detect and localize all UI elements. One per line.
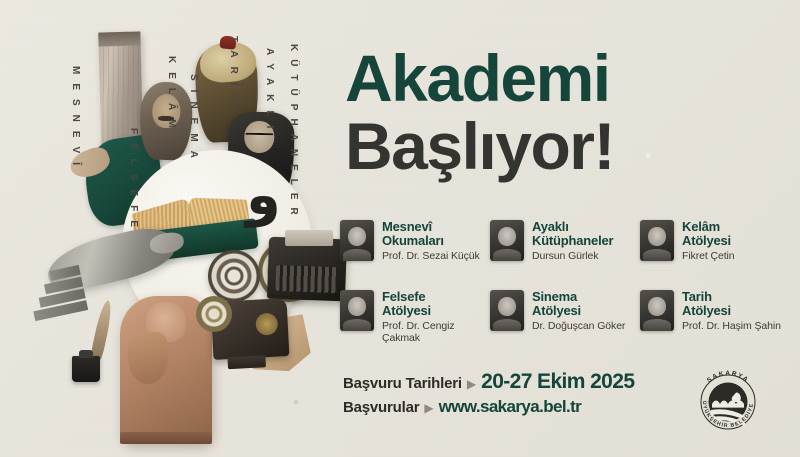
svg-text:SAKARYA: SAKARYA: [706, 370, 750, 384]
logo-top-text: SAKARYA: [706, 370, 750, 384]
vertical-word-ayakli: AYAKLI: [264, 48, 275, 137]
speaker-name: Prof. Dr. Cengiz Çakmak: [382, 320, 490, 344]
speaker-card-felsefe-atolyesi[interactable]: Felsefe Atölyesi Prof. Dr. Cengiz Çakmak: [340, 290, 490, 360]
avatar: [490, 290, 524, 331]
sakarya-municipality-logo: SAKARYA BÜYÜKŞEHİR BELEDİYESİ: [688, 362, 768, 442]
vertical-word-tarih: TARİH: [228, 36, 239, 111]
speaker-topic: Ayaklı Kütüphaneler: [532, 220, 613, 248]
title-line-basliyor: Başlıyor!: [345, 116, 775, 176]
speaker-topic: Kelâm Atölyesi: [682, 220, 734, 248]
application-dates-row: Başvuru Tarihleri ▶ 20-27 Ekim 2025: [343, 370, 703, 394]
typewriter-art: [267, 237, 347, 302]
vertical-word-kutuphaneler: KÜTÜPHANELER: [288, 44, 299, 223]
speaker-name: Prof. Dr. Sezai Küçük: [382, 250, 480, 262]
speaker-name: Dursun Gürlek: [532, 250, 613, 262]
speaker-name: Dr. Doğuşcan Göker: [532, 320, 625, 332]
avatar: [340, 290, 374, 331]
avatar: [640, 220, 674, 261]
speaker-card-kelam-atolyesi[interactable]: Kelâm Atölyesi Fikret Çetin: [640, 220, 790, 290]
speaker-topic: Felsefe Atölyesi: [382, 290, 490, 318]
speaker-name: Fikret Çetin: [682, 250, 734, 262]
speaker-topic: Mesnevî Okumaları: [382, 220, 480, 248]
speaker-name: Prof. Dr. Haşim Şahin: [682, 320, 781, 332]
title-line-akademi: Akademi: [345, 48, 775, 108]
vertical-word-kelam: KELÂM: [166, 56, 177, 137]
speaker-topic: Tarih Atölyesi: [682, 290, 781, 318]
avatar: [340, 220, 374, 261]
arrow-right-icon: ▶: [467, 378, 476, 390]
avatar: [490, 220, 524, 261]
application-url-value[interactable]: www.sakarya.bel.tr: [439, 397, 582, 417]
speaker-card-ayakli-kutuphaneler[interactable]: Ayaklı Kütüphaneler Dursun Gürlek: [490, 220, 640, 290]
vertical-word-felsefe: FELSEFE: [128, 128, 139, 236]
application-dates-value: 20-27 Ekim 2025: [481, 370, 634, 394]
vertical-word-sinema: SİNEMA: [188, 74, 199, 167]
collage-artwork: و MESNEVÎ FELSEFE KELÂM SİNEMA TARİH AYA…: [0, 0, 330, 457]
speaker-card-tarih-atolyesi[interactable]: Tarih Atölyesi Prof. Dr. Haşim Şahin: [640, 290, 790, 360]
footer-info: Başvuru Tarihleri ▶ 20-27 Ekim 2025 Başv…: [343, 370, 703, 417]
vertical-word-mesnevi: MESNEVÎ: [70, 66, 81, 174]
speaker-topic: Sinema Atölyesi: [532, 290, 625, 318]
quill-feather-art: [90, 299, 114, 360]
application-dates-label: Başvuru Tarihleri: [343, 375, 462, 392]
speaker-list: Mesnevî Okumaları Prof. Dr. Sezai Küçük …: [340, 220, 790, 360]
film-reel-art: [196, 296, 232, 332]
poster-title: Akademi Başlıyor!: [345, 48, 775, 176]
speaker-card-mesnevi-okumalari[interactable]: Mesnevî Okumaları Prof. Dr. Sezai Küçük: [340, 220, 490, 290]
avatar: [640, 290, 674, 331]
ink-pot-art: [72, 356, 100, 382]
statue-beard-art: [128, 332, 168, 384]
film-reel-art: [208, 250, 260, 302]
application-url-label: Başvurular: [343, 399, 419, 416]
arrow-right-icon: ▶: [424, 402, 433, 414]
poster-canvas: و MESNEVÎ FELSEFE KELÂM SİNEMA TARİH AYA…: [0, 0, 800, 457]
speaker-card-sinema-atolyesi[interactable]: Sinema Atölyesi Dr. Doğuşcan Göker: [490, 290, 640, 360]
application-url-row[interactable]: Başvurular ▶ www.sakarya.bel.tr: [343, 397, 703, 417]
